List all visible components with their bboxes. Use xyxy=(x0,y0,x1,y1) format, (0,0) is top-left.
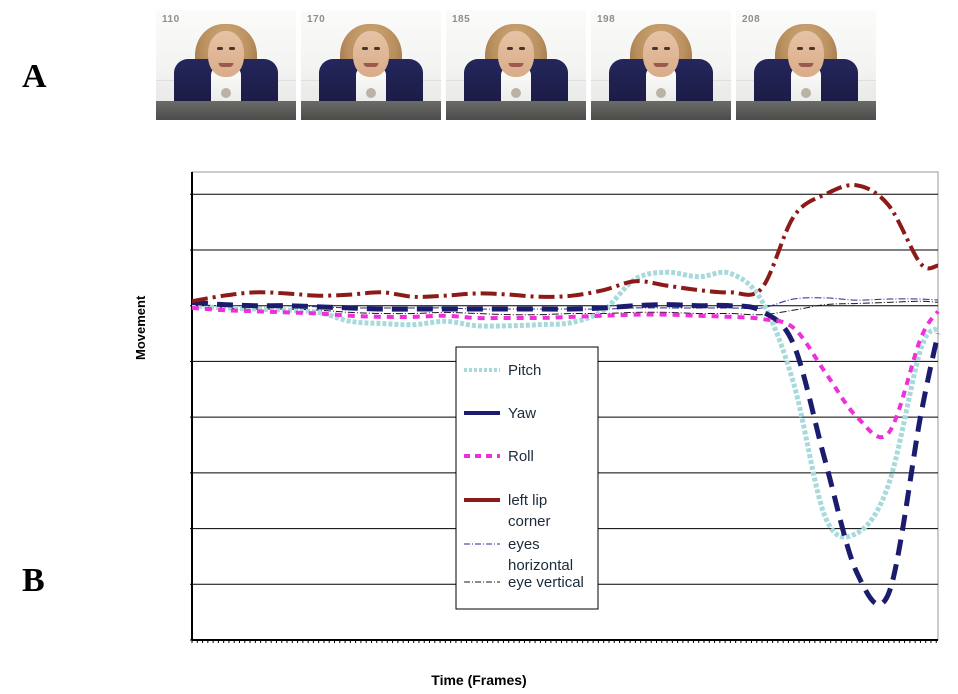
desk xyxy=(156,101,296,120)
necklace xyxy=(366,88,376,98)
face xyxy=(208,31,244,77)
necklace xyxy=(801,88,811,98)
frame-number: 185 xyxy=(452,14,470,25)
mouth xyxy=(509,63,524,67)
left-eye xyxy=(652,47,658,50)
mouth xyxy=(219,63,234,67)
legend-label: eyes xyxy=(508,536,540,553)
movement-line-chart: 1050-5-10-15-20-25-301101928374655647382… xyxy=(190,170,942,643)
video-frame: 185 xyxy=(446,10,586,120)
chart-svg: 1050-5-10-15-20-25-301101928374655647382… xyxy=(190,170,942,643)
legend-label: eye vertical xyxy=(508,574,584,591)
x-axis-title: Time (Frames) xyxy=(0,672,958,688)
left-eye xyxy=(362,47,368,50)
desk xyxy=(301,101,441,120)
frame-number: 208 xyxy=(742,14,760,25)
video-frame: 198 xyxy=(591,10,731,120)
video-frame: 170 xyxy=(301,10,441,120)
legend-label: Roll xyxy=(508,448,534,465)
mouth xyxy=(799,63,814,67)
face xyxy=(643,31,679,77)
desk xyxy=(446,101,586,120)
y-axis-title: Movement xyxy=(133,296,148,360)
right-eye xyxy=(519,47,525,50)
face xyxy=(788,31,824,77)
legend-label: corner xyxy=(508,513,551,530)
desk xyxy=(736,101,876,120)
necklace xyxy=(656,88,666,98)
video-frame: 110 xyxy=(156,10,296,120)
mouth xyxy=(364,63,379,67)
desk xyxy=(591,101,731,120)
left-eye xyxy=(217,47,223,50)
chart-legend: PitchYawRollleft lipcornereyeshorizontal… xyxy=(456,347,598,609)
legend-label: left lip xyxy=(508,492,547,509)
right-eye xyxy=(809,47,815,50)
right-eye xyxy=(664,47,670,50)
legend-label: Yaw xyxy=(508,405,536,422)
necklace xyxy=(511,88,521,98)
video-frame-strip: 110 170 185 xyxy=(156,10,876,120)
face xyxy=(353,31,389,77)
necklace xyxy=(221,88,231,98)
left-eye xyxy=(507,47,513,50)
frame-number: 170 xyxy=(307,14,325,25)
legend-label: horizontal xyxy=(508,557,573,574)
left-eye xyxy=(797,47,803,50)
mouth xyxy=(654,63,669,67)
panel-b-label: B xyxy=(22,562,45,600)
right-eye xyxy=(229,47,235,50)
frame-number: 110 xyxy=(162,14,180,25)
panel-a-label: A xyxy=(22,58,47,96)
video-frame: 208 xyxy=(736,10,876,120)
frame-number: 198 xyxy=(597,14,615,25)
right-eye xyxy=(374,47,380,50)
legend-label: Pitch xyxy=(508,362,541,379)
face xyxy=(498,31,534,77)
